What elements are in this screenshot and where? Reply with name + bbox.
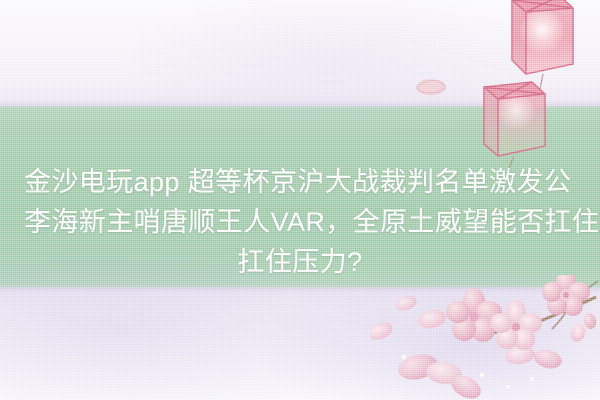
headline-line-3: 扛住压力? xyxy=(0,242,600,282)
lantern-upper-icon xyxy=(512,0,573,94)
cherry-blossom-group xyxy=(370,275,600,400)
headline-line-2: 李海新主哨唐顺王人VAR，全原土威望能否扛住压 xyxy=(0,202,600,242)
blossom-buds xyxy=(568,312,597,344)
lantern-group xyxy=(420,0,600,174)
blossom-a xyxy=(446,288,502,342)
banner-image: 金沙电玩app 超等杯京沪大战裁判名单激发公 李海新主哨唐顺王人VAR，全原土威… xyxy=(0,0,600,400)
headline-line-1: 金沙电玩app 超等杯京沪大战裁判名单激发公 xyxy=(0,162,600,202)
lantern-lower-icon xyxy=(484,82,545,174)
headline-text: 金沙电玩app 超等杯京沪大战裁判名单激发公 李海新主哨唐顺王人VAR，全原土威… xyxy=(0,162,600,282)
